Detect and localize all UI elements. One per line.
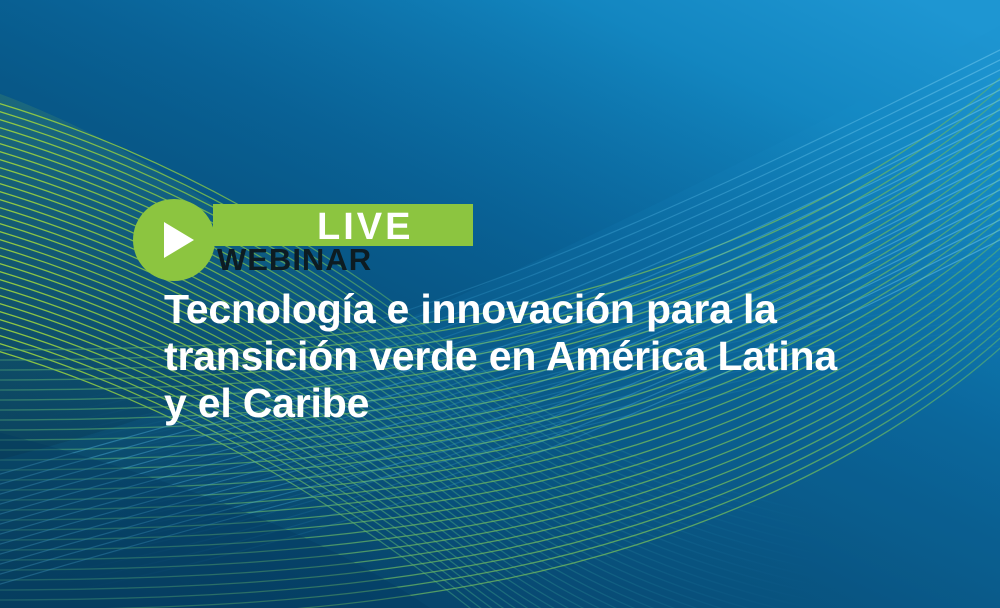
page-title: Tecnología e innovación para la transici… (164, 286, 994, 427)
webinar-label: WEBINAR (217, 243, 372, 277)
title-line-3: y el Caribe (164, 380, 994, 427)
live-badge: LIVE (213, 204, 473, 246)
title-line-1: Tecnología e innovación para la (164, 286, 994, 333)
play-icon[interactable] (133, 199, 215, 281)
play-triangle-glyph (164, 222, 194, 258)
banner-content: LIVE WEBINAR Tecnología e innovación par… (0, 0, 1000, 608)
live-webinar-badge-group: LIVE WEBINAR (133, 199, 533, 283)
webinar-banner: LIVE WEBINAR Tecnología e innovación par… (0, 0, 1000, 608)
title-line-2: transición verde en América Latina (164, 333, 994, 380)
